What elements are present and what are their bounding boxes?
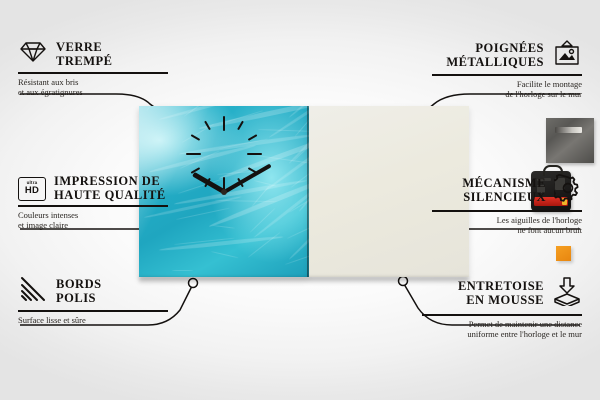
feature-header: VERRE TREMPÉ [18, 40, 168, 69]
feature-title: MÉCANISME SILENCIEUX [462, 177, 546, 204]
feature-title: POIGNÉES MÉTALLIQUES [446, 42, 544, 69]
feature-header: BORDS POLIS [18, 276, 168, 307]
framed-picture-hanging-icon [552, 40, 582, 71]
feature-rule [422, 314, 582, 316]
gear-icon [554, 174, 582, 207]
feature-rule [18, 310, 168, 312]
feature-poignees-metalliques: POIGNÉES MÉTALLIQUES Facilite le montage… [432, 40, 582, 100]
feature-rule [18, 205, 168, 207]
clock-center-cap [221, 189, 227, 195]
hanger-slot [555, 127, 582, 133]
feature-rule [432, 210, 582, 212]
feature-header: MÉCANISME SILENCIEUX [432, 174, 582, 207]
clock-tick-mark [186, 153, 201, 155]
feature-desc: Couleurs intenses et image claire [18, 210, 168, 231]
feature-desc: Les aiguilles de l'horloge ne font aucun… [432, 215, 582, 236]
ultra-hd-icon: ultra HD [18, 177, 46, 201]
arrow-onto-pad-icon [552, 276, 582, 311]
feature-verre-trempe: VERRE TREMPÉ Résistant aux bris et aux é… [18, 40, 168, 98]
feature-desc: Permet de maintenir une distance uniform… [422, 319, 582, 340]
diamond-icon [18, 40, 48, 69]
clock-tick-mark [204, 120, 211, 130]
ultra-hd-icon-main-text: HD [25, 186, 39, 196]
feature-title: IMPRESSION DE HAUTE QUALITÉ [54, 175, 166, 202]
feature-mecanisme-silencieux: MÉCANISME SILENCIEUX Les aiguilles de l'… [432, 174, 582, 236]
infographic-canvas: VERRE TREMPÉ Résistant aux bris et aux é… [0, 0, 600, 400]
feature-title: ENTRETOISE EN MOUSSE [458, 280, 544, 307]
product-image [139, 106, 469, 277]
feature-header: POIGNÉES MÉTALLIQUES [432, 40, 582, 71]
feature-title: VERRE TREMPÉ [56, 41, 112, 68]
clock-tick-mark [191, 134, 201, 141]
feature-rule [432, 74, 582, 76]
feature-desc: Facilite le montage de l'horloge sur le … [432, 79, 582, 100]
feature-header: ENTRETOISE EN MOUSSE [422, 276, 582, 311]
feature-title: BORDS POLIS [56, 278, 102, 305]
product-shadow [139, 277, 469, 284]
foam-spacer [556, 246, 571, 261]
feature-desc: Résistant aux bris et aux égratignures [18, 77, 168, 98]
feature-rule [18, 72, 168, 74]
feature-bords-polis: BORDS POLIS Surface lisse et sûre [18, 276, 168, 325]
feature-header: ultra HD IMPRESSION DE HAUTE QUALITÉ [18, 175, 168, 202]
feature-desc: Surface lisse et sûre [18, 315, 168, 326]
metal-hanger-plate [546, 118, 594, 163]
polished-edge-icon [18, 276, 48, 307]
feature-impression-haute-qualite: ultra HD IMPRESSION DE HAUTE QUALITÉ Cou… [18, 175, 168, 231]
feature-entretoise-en-mousse: ENTRETOISE EN MOUSSE Permet de maintenir… [422, 276, 582, 340]
